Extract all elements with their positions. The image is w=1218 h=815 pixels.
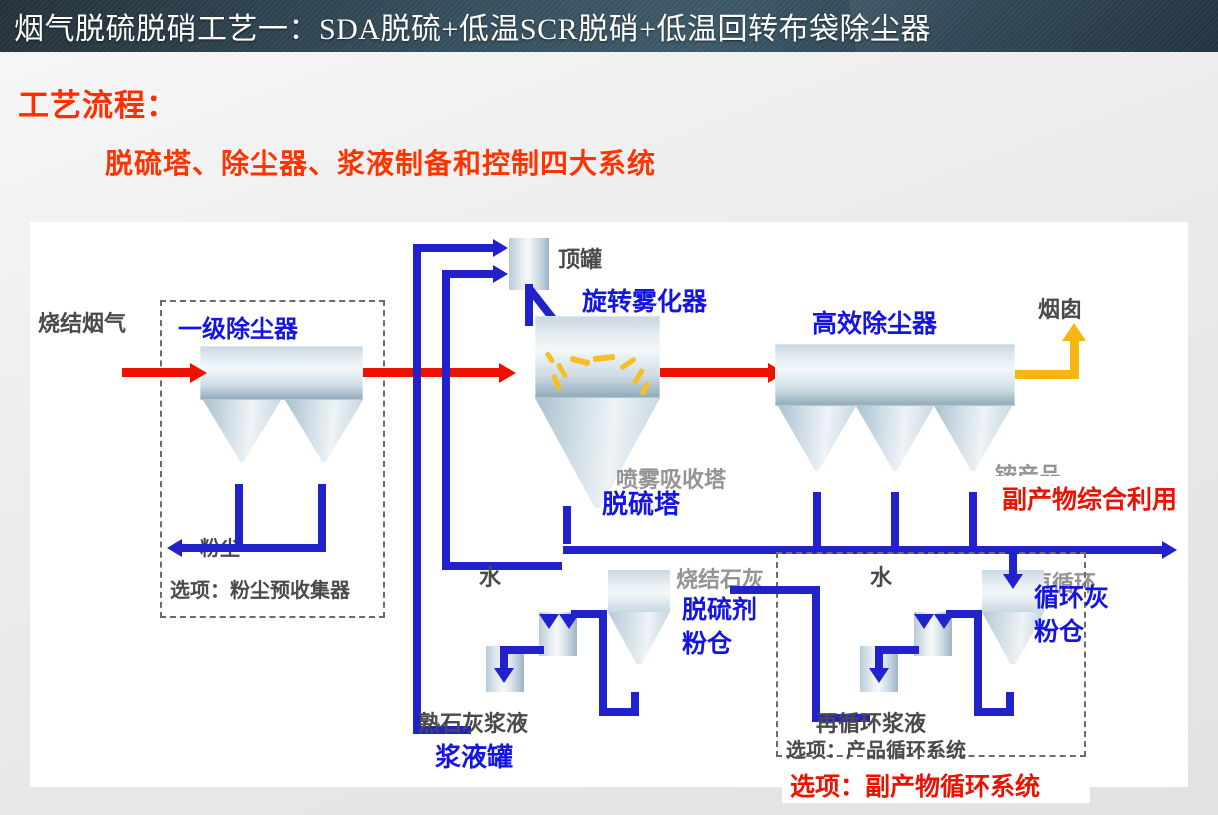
slurry-water-label: 水 (479, 560, 501, 592)
top-tank-feed-arrow-1-icon (493, 239, 508, 257)
desulfurizer-silo-body (608, 570, 670, 612)
rotary-atomizer-label: 旋转雾化器 (582, 282, 707, 318)
clean-gas-vertical (1070, 340, 1079, 379)
high-efficiency-collector-body (775, 344, 1015, 406)
stack-label: 烟囱 (1038, 292, 1082, 324)
top-tank-body (509, 238, 549, 290)
primary-to-tower-arrow-icon (499, 363, 516, 383)
dust-leg-1 (235, 484, 243, 552)
dust-return-line (182, 544, 326, 552)
top-tank-label: 顶罐 (558, 242, 602, 274)
slurry-riser-left (413, 244, 421, 734)
slaked-lime-slurry-label: 熟石灰浆液 (418, 706, 528, 738)
desulfurizer-silo-cone (608, 612, 670, 664)
byproduct-use-label: 副产物综合利用 (1002, 480, 1177, 516)
high-efficiency-hopper-1 (778, 406, 856, 471)
process-subsystems-heading: 脱硫塔、除尘器、浆液制备和控制四大系统 (105, 142, 656, 182)
recycle-water-label: 水 (870, 560, 892, 592)
ash-leg-3 (969, 492, 977, 554)
slurry-transfer-arrow-icon (494, 668, 514, 683)
ash-leg-2 (891, 492, 899, 554)
silo-discharge-foot (631, 692, 639, 716)
top-tank-feed-line-2 (442, 270, 497, 278)
slurry-tank-label: 浆液罐 (435, 737, 513, 774)
byproduct-recycle-option-label: 选项：副产物循环系统 (790, 767, 1040, 803)
recycle-silo-discharge-vertical (974, 610, 982, 716)
clean-gas-arrow-icon (1062, 323, 1086, 341)
tower-to-collector-line (660, 368, 770, 377)
primary-collector-body (200, 346, 363, 400)
slurry-dose-arrow-1-icon (539, 614, 559, 629)
silo-discharge-vertical (599, 610, 607, 716)
recycle-water-feed-horizontal (730, 586, 820, 594)
process-flow-heading: 工艺流程： (18, 80, 178, 125)
recycle-dose-arrow-1-icon (914, 614, 934, 629)
recycle-silo-discharge-foot (1006, 692, 1014, 716)
top-tank-feed-arrow-2-icon (493, 265, 508, 283)
inlet-gas-arrow-icon (190, 363, 207, 383)
recycle-transfer-arrow-icon (869, 668, 889, 683)
recycle-water-feed-vertical (812, 586, 820, 722)
recycle-ash-silo-label-line2: 粉仓 (1034, 612, 1084, 648)
slurry-riser-right (442, 270, 450, 570)
dust-leg-2 (318, 484, 326, 552)
desulfurization-tower-label: 脱硫塔 (602, 484, 680, 521)
dust-precollector-option-label: 选项：粉尘预收集器 (170, 574, 350, 603)
inlet-gas-label: 烧结烟气 (38, 306, 126, 338)
ash-leg-1 (813, 492, 821, 554)
slurry-riser-right-foot (442, 562, 562, 570)
high-efficiency-hopper-2 (856, 406, 934, 471)
title-bar: 烟气脱硫脱硝工艺一：SDA脱硫+低温SCR脱硝+低温回转布袋除尘器 (0, 0, 1218, 54)
recycle-ash-silo-label-line1: 循环灰 (1034, 578, 1109, 614)
product-recycle-option-label: 选项：产品循环系统 (786, 734, 966, 763)
primary-dust-collector-title: 一级除尘器 (178, 309, 298, 344)
high-efficiency-collector-title: 高效除尘器 (812, 304, 937, 340)
clean-gas-horizontal (1015, 370, 1078, 379)
primary-to-tower-line (363, 368, 501, 377)
slide-title: 烟气脱硫脱硝工艺一：SDA脱硫+低温SCR脱硝+低温回转布袋除尘器 (14, 4, 931, 48)
desulfurizer-silo-label-line1: 脱硫剂 (682, 590, 757, 626)
recycle-ash-inlet-drop (1009, 548, 1017, 580)
process-flow-diagram: 烧结烟气 一级除尘器 粉尘 选项：粉尘预收集器 顶罐 旋转雾化器 (30, 222, 1188, 787)
inlet-gas-line (122, 368, 192, 377)
desulfurizer-silo-label-line2: 粉仓 (682, 624, 732, 660)
dust-return-arrow-icon (167, 539, 182, 557)
product-bus-arrow-icon (1162, 541, 1177, 559)
top-tank-feed-line-1 (413, 244, 497, 252)
tower-drain-vertical (563, 506, 571, 544)
